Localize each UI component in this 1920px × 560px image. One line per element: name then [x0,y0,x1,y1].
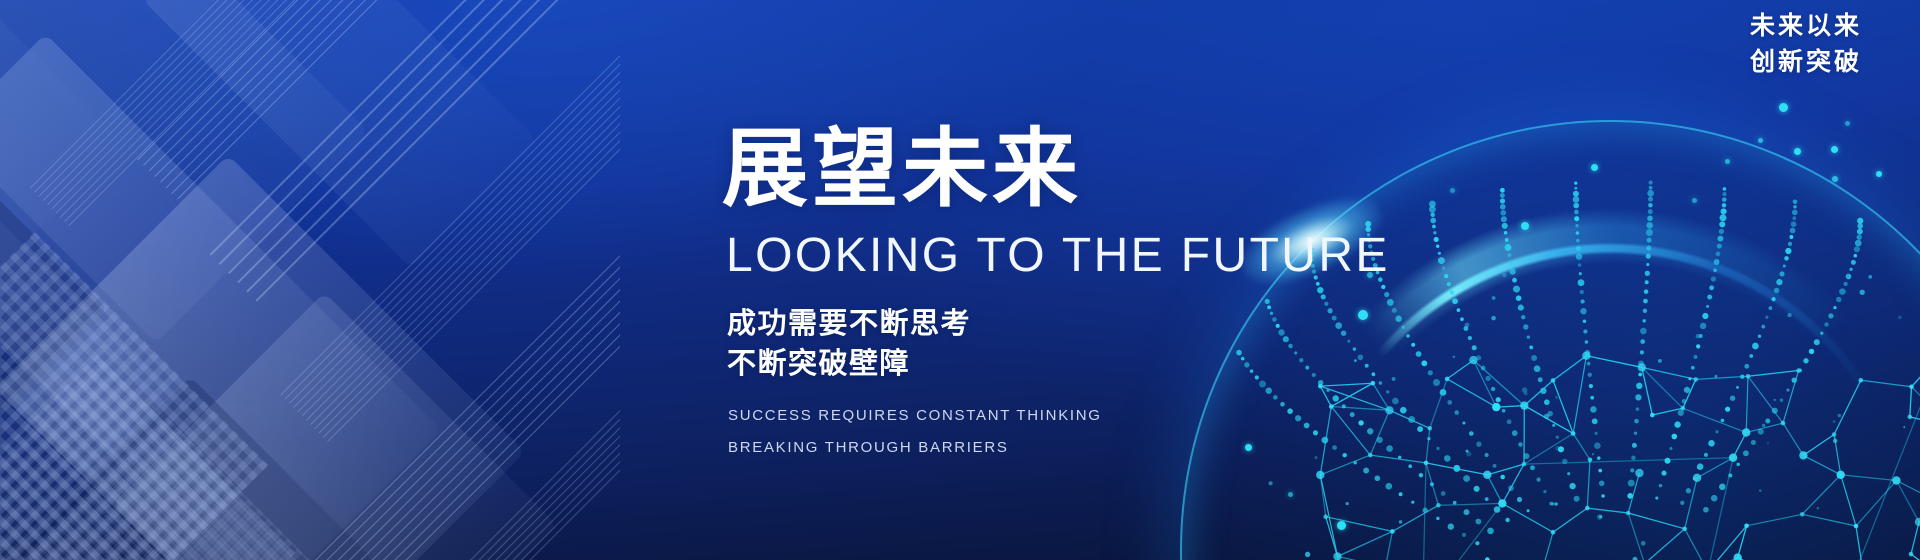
particle [1450,188,1455,193]
hairline-group [280,0,620,446]
subtitle-chinese-line1: 成功需要不断思考 [727,304,1390,344]
diagonal-sheet [142,0,538,268]
corner-tagline-line2: 创新突破 [1750,44,1862,80]
geometric-decoration [0,0,620,560]
subtitle-english: SUCCESS REQUIRES CONSTANT THINKING BREAK… [728,400,1390,465]
checker-pattern [0,355,295,560]
particle [1288,492,1293,497]
diagonal-sheet [0,34,441,560]
headline-chinese: 展望未来 [722,126,1390,212]
subtitle-chinese: 成功需要不断思考 不断突破壁障 [727,304,1390,384]
particle [1692,198,1697,203]
hairline-group [313,137,620,560]
subtitle-english-line2: BREAKING THROUGH BARRIERS [728,432,1390,464]
diagonal-sheet [0,206,219,560]
subtitle-chinese-line2: 不断突破壁障 [727,344,1390,384]
hairline-group [30,0,610,230]
diagonal-sheet [0,155,525,560]
particle [1337,521,1346,530]
hairline-group [137,0,620,205]
particle [1758,138,1763,143]
particle [1591,164,1598,171]
diagonal-sheet [0,0,368,343]
particle [1779,103,1788,112]
particle [1845,121,1850,126]
corner-tagline-line1: 未来以来 [1750,8,1862,44]
checker-pattern [0,232,268,560]
diagonal-sheet [112,292,557,560]
headline-english: LOOKING TO THE FUTURE [726,232,1390,280]
dark-wedge [0,97,108,443]
dark-wedge [6,376,374,560]
particle [1725,159,1730,164]
diagonal-sheet [0,0,124,299]
particle [1876,171,1882,177]
checker-pattern [0,417,323,560]
corner-tagline: 未来以来 创新突破 [1750,8,1862,81]
hairline-group [253,0,620,560]
particle [1521,222,1529,230]
hairline-group [210,0,620,309]
promotional-banner: 未来以来 创新突破 展望未来 LOOKING TO THE FUTURE 成功需… [0,0,1920,560]
particle [1794,148,1801,155]
particle [1832,176,1838,182]
headline-block: 展望未来 LOOKING TO THE FUTURE 成功需要不断思考 不断突破… [722,126,1390,465]
subtitle-english-line1: SUCCESS REQUIRES CONSTANT THINKING [728,400,1390,432]
particle [1831,146,1838,153]
